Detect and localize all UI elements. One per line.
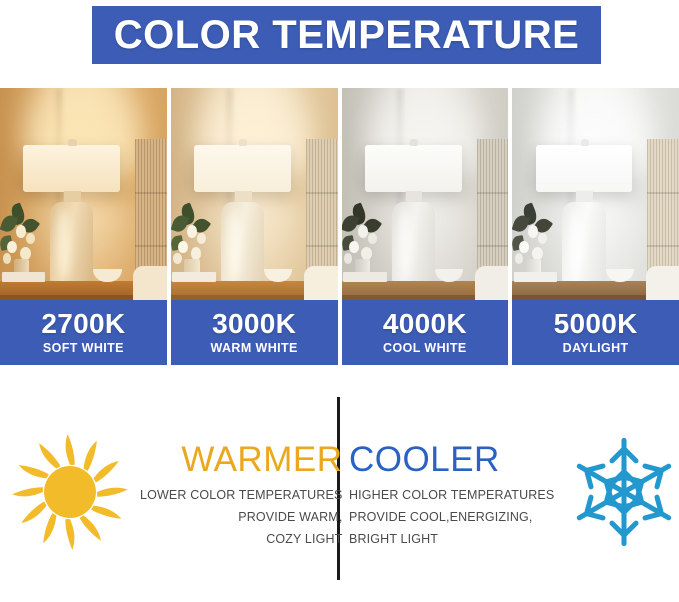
bloom — [515, 253, 523, 264]
bedding — [133, 266, 166, 300]
kelvin-value: 5000K — [554, 310, 638, 339]
cooler-description-line: BRIGHT LIGHT — [349, 529, 554, 551]
bloom — [538, 233, 547, 244]
bloom — [344, 253, 352, 264]
woven-screen-seam — [647, 245, 679, 247]
lamp-base-highlight — [57, 209, 70, 277]
leaf — [342, 213, 360, 233]
stacked-books — [514, 272, 557, 282]
color-temperature-panel-row: 2700K SOFT WHITE — [0, 88, 679, 365]
bloom — [187, 225, 197, 237]
woven-screen-seam — [306, 192, 338, 194]
sun-icon — [0, 404, 140, 579]
temperature-label-3000k: 3000K WARM WHITE — [171, 300, 338, 365]
warmer-description-line: LOWER COLOR TEMPERATURES — [140, 485, 342, 507]
bloom — [519, 241, 529, 253]
page-title: COLOR TEMPERATURE — [114, 15, 580, 55]
bloom — [349, 241, 359, 253]
table-top — [171, 281, 314, 296]
bloom — [197, 233, 206, 244]
table-edge — [0, 295, 143, 300]
flower-arrangement — [512, 203, 557, 279]
bloom — [173, 253, 181, 264]
kelvin-value: 4000K — [383, 310, 467, 339]
lamp-base-highlight — [227, 209, 240, 277]
temperature-panel-5000k: 5000K DAYLIGHT — [512, 88, 679, 365]
lamp-base-highlight — [398, 209, 411, 277]
kelvin-name: WARM WHITE — [210, 341, 297, 355]
table-top — [512, 281, 655, 296]
snowflake-icon — [554, 404, 679, 579]
stacked-books — [2, 272, 45, 282]
temperature-label-4000k: 4000K COOL WHITE — [342, 300, 509, 365]
woven-screen-seam — [477, 245, 509, 247]
page-title-banner: COLOR TEMPERATURE — [92, 6, 601, 64]
temperature-panel-2700k: 2700K SOFT WHITE — [0, 88, 167, 365]
bloom — [20, 247, 31, 260]
bedding — [304, 266, 337, 300]
kelvin-value: 3000K — [212, 310, 296, 339]
bloom — [16, 225, 26, 237]
bedding — [646, 266, 679, 300]
temperature-label-2700k: 2700K SOFT WHITE — [0, 300, 167, 365]
temperature-label-5000k: 5000K DAYLIGHT — [512, 300, 679, 365]
cooler-description: HIGHER COLOR TEMPERATURES PROVIDE COOL,E… — [349, 485, 554, 551]
bloom — [361, 247, 372, 260]
flower-arrangement — [342, 203, 387, 279]
lamp-finial — [581, 139, 589, 146]
kelvin-value: 2700K — [41, 310, 125, 339]
bloom — [7, 241, 17, 253]
cooler-section: COOLER HIGHER COLOR TEMPERATURES PROVIDE… — [345, 382, 679, 602]
table-edge — [342, 295, 485, 300]
warmer-heading: WARMER — [181, 442, 342, 479]
stacked-books — [343, 272, 386, 282]
lamp-shade — [194, 145, 291, 192]
warmer-section: WARMER LOWER COLOR TEMPERATURES PROVIDE … — [0, 382, 330, 602]
table-top — [0, 281, 143, 296]
bloom — [26, 233, 35, 244]
bloom — [528, 225, 538, 237]
bedding — [475, 266, 508, 300]
kelvin-name: COOL WHITE — [383, 341, 467, 355]
woven-screen-seam — [135, 245, 167, 247]
kelvin-name: DAYLIGHT — [563, 341, 629, 355]
lamp-finial — [239, 139, 247, 146]
bloom — [532, 247, 543, 260]
woven-screen-seam — [306, 245, 338, 247]
warm-cool-comparison: WARMER LOWER COLOR TEMPERATURES PROVIDE … — [0, 382, 679, 602]
bloom — [191, 247, 202, 260]
woven-screen-seam — [135, 192, 167, 194]
flower-arrangement — [171, 203, 216, 279]
cooler-text-column: COOLER HIGHER COLOR TEMPERATURES PROVIDE… — [345, 382, 554, 550]
table-edge — [171, 295, 314, 300]
lamp-shade — [365, 145, 462, 192]
lamp-room-scene-4000k — [342, 88, 509, 300]
warmer-description-line: COZY LIGHT — [140, 529, 342, 551]
cooler-description-line: PROVIDE COOL,ENERGIZING, — [349, 507, 554, 529]
woven-screen-seam — [647, 192, 679, 194]
temperature-panel-3000k: 3000K WARM WHITE — [171, 88, 338, 365]
temperature-panel-4000k: 4000K COOL WHITE — [342, 88, 509, 365]
lamp-finial — [68, 139, 76, 146]
warmer-description-line: PROVIDE WARM, — [140, 507, 342, 529]
lamp-finial — [410, 139, 418, 146]
leaf — [512, 213, 530, 233]
lamp-shade — [536, 145, 633, 192]
lamp-room-scene-5000k — [512, 88, 679, 300]
cooler-heading: COOLER — [349, 442, 500, 479]
leaf — [171, 213, 189, 233]
bloom — [358, 225, 368, 237]
lamp-shade — [23, 145, 120, 192]
warmer-description: LOWER COLOR TEMPERATURES PROVIDE WARM, C… — [140, 485, 342, 551]
table-top — [342, 281, 485, 296]
stacked-books — [172, 272, 215, 282]
cooler-description-line: HIGHER COLOR TEMPERATURES — [349, 485, 554, 507]
table-edge — [512, 295, 655, 300]
warmer-text-column: WARMER LOWER COLOR TEMPERATURES PROVIDE … — [140, 382, 346, 550]
leaf — [0, 213, 18, 233]
bloom — [368, 233, 377, 244]
flower-arrangement — [0, 203, 45, 279]
lamp-room-scene-2700k — [0, 88, 167, 300]
woven-screen-seam — [477, 192, 509, 194]
lamp-room-scene-3000k — [171, 88, 338, 300]
bloom — [3, 253, 11, 264]
bloom — [178, 241, 188, 253]
kelvin-name: SOFT WHITE — [43, 341, 124, 355]
